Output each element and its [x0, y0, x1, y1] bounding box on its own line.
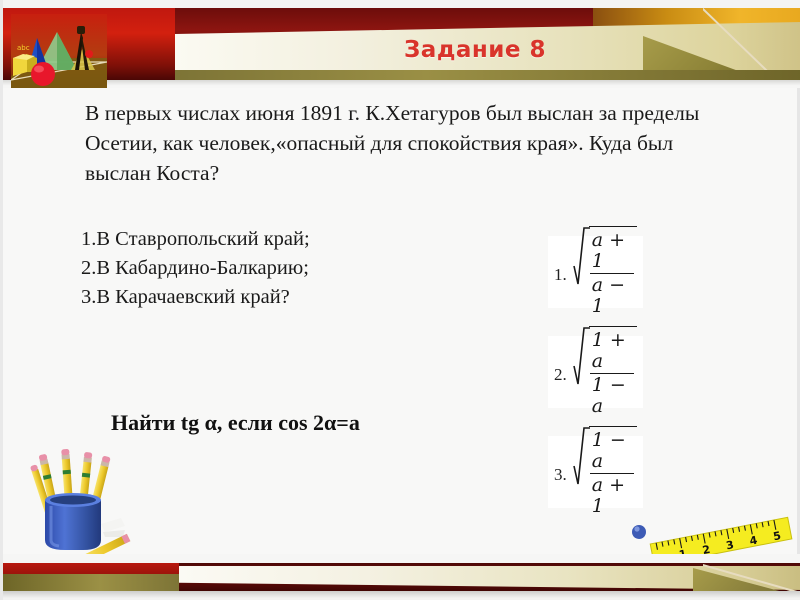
geometry-shapes-svg: abc: [11, 14, 107, 88]
square-root-icon: [573, 326, 590, 418]
question-text: В первых числах июня 1891 г. К.Хетагуров…: [85, 98, 710, 188]
fraction-numerator: 1 − a: [590, 429, 634, 474]
radical-expression: a + 1 a − 1: [573, 226, 637, 318]
radical-expression: 1 + a 1 − a: [573, 326, 637, 418]
top-white-edge: [3, 0, 800, 8]
list-item[interactable]: 1.В Ставропольский край;: [81, 225, 511, 254]
formula-number: 1.: [554, 259, 567, 285]
radical-expression: 1 − a a + 1: [573, 426, 637, 518]
svg-text:abc: abc: [17, 44, 30, 52]
bottom-left-olive-strip: [3, 574, 179, 592]
square-root-icon: [573, 226, 590, 318]
top-olive-strip: [175, 70, 800, 80]
geometry-shapes-clipart: abc: [11, 14, 107, 88]
fraction: 1 + a 1 − a: [589, 326, 637, 418]
bottom-decorative-border: [3, 554, 800, 600]
bottom-diagonal-accent-line: [703, 564, 800, 594]
fraction: 1 − a a + 1: [589, 426, 637, 518]
page-title: Задание 8: [175, 30, 775, 70]
bottom-white-edge: [3, 554, 800, 563]
fraction-numerator: a + 1: [590, 229, 634, 274]
answer-options-list: 1.В Ставропольский край; 2.В Кабардино-Б…: [81, 225, 511, 312]
task-statement: Найти tg α, если cos 2α=a: [111, 410, 531, 436]
formula-option-3[interactable]: 3. 1 − a a + 1: [548, 436, 643, 508]
formula-number: 3.: [554, 459, 567, 485]
list-item[interactable]: 3.В Карачаевский край?: [81, 283, 511, 312]
fraction-numerator: 1 + a: [590, 329, 634, 374]
pencil-cup-svg: [21, 444, 133, 562]
bottom-grey-edge: [3, 591, 800, 600]
formula-option-1[interactable]: 1. a + 1 a − 1: [548, 236, 643, 308]
formula-option-2[interactable]: 2. 1 + a 1 − a: [548, 336, 643, 408]
fraction: a + 1 a − 1: [589, 226, 637, 318]
square-root-icon: [573, 426, 590, 518]
slide: abc Задание 8 В первых числах июня 1891 …: [0, 0, 800, 600]
fraction-denominator: 1 − a: [590, 374, 634, 418]
top-bottom-white-edge: [3, 80, 800, 88]
blue-dot-icon: [632, 525, 646, 539]
formula-number: 2.: [554, 359, 567, 385]
fraction-denominator: a − 1: [590, 274, 634, 318]
pencil-cup-clipart: [21, 444, 133, 562]
list-item[interactable]: 2.В Кабардино-Балкарию;: [81, 254, 511, 283]
